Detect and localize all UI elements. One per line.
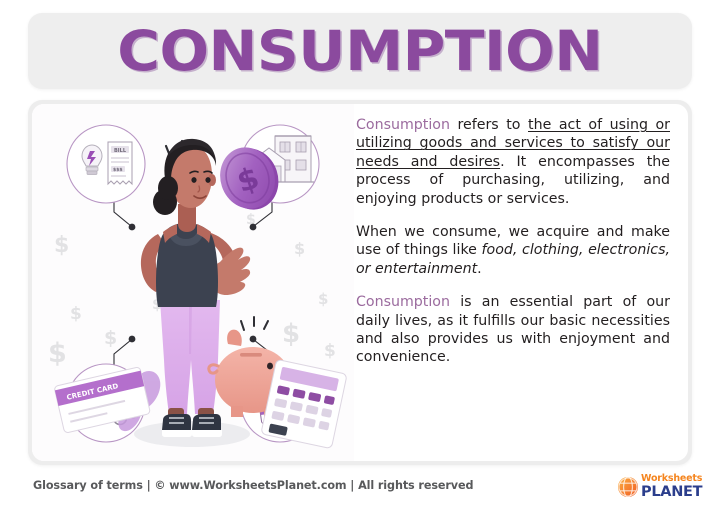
logo-top-word: Worksheets bbox=[641, 474, 702, 484]
illustration: $ $ $ $ $ $ $ $ $ $ bbox=[32, 104, 354, 461]
paragraph-1: Consumption refers to the act of using o… bbox=[356, 116, 670, 208]
logo-wordmark: Worksheets PLANET bbox=[641, 474, 702, 499]
accent-term-1: Consumption bbox=[356, 117, 450, 133]
svg-text:BILL: BILL bbox=[114, 148, 127, 154]
svg-text:$: $ bbox=[324, 341, 336, 361]
paragraph-3: Consumption is an essential part of our … bbox=[356, 293, 670, 367]
paragraph-2: When we consume, we acquire and make use… bbox=[356, 223, 670, 278]
svg-text:$: $ bbox=[294, 239, 305, 258]
content-card-inner: $ $ $ $ $ $ $ $ $ $ bbox=[32, 104, 688, 461]
worksheet-page: CONSUMPTION bbox=[0, 0, 720, 507]
worksheets-planet-logo[interactable]: Worksheets PLANET bbox=[617, 473, 703, 501]
definition-text: Consumption refers to the act of using o… bbox=[356, 116, 676, 456]
footer: Glossary of terms | © www.WorksheetsPlan… bbox=[0, 470, 720, 507]
p2-seg-3: . bbox=[477, 261, 482, 277]
calculator-icon bbox=[261, 359, 347, 448]
page-title: CONSUMPTION bbox=[117, 24, 602, 79]
bill-receipt-icon: BILL $$$ bbox=[108, 142, 132, 184]
svg-text:$: $ bbox=[104, 327, 117, 349]
p1-seg-2: refers to bbox=[450, 117, 528, 133]
accent-term-2: Consumption bbox=[356, 294, 450, 310]
title-card: CONSUMPTION bbox=[28, 13, 692, 89]
globe-icon bbox=[617, 476, 639, 498]
svg-text:$$$: $$$ bbox=[113, 167, 123, 173]
content-card: $ $ $ $ $ $ $ $ $ $ bbox=[28, 100, 692, 465]
svg-text:$: $ bbox=[54, 233, 69, 258]
footer-credit: Glossary of terms | © www.WorksheetsPlan… bbox=[33, 479, 473, 492]
svg-text:$: $ bbox=[282, 319, 300, 349]
bubble-utilities: BILL $$$ bbox=[67, 125, 145, 203]
logo-bottom-word: PLANET bbox=[641, 485, 702, 500]
svg-text:$: $ bbox=[70, 304, 82, 324]
svg-text:$: $ bbox=[48, 338, 67, 369]
svg-text:$: $ bbox=[318, 290, 328, 308]
